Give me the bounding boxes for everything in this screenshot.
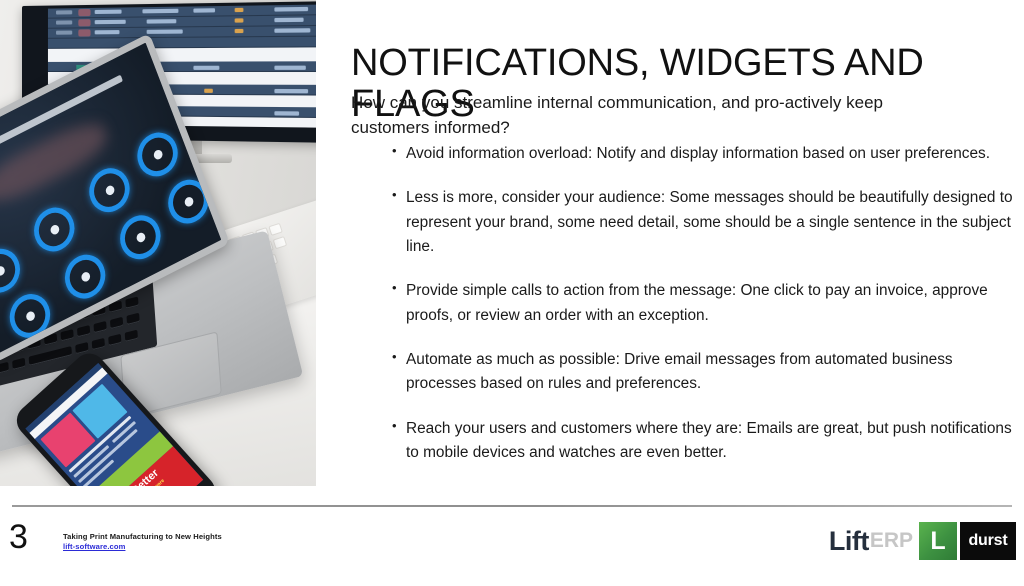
slide-canvas: Sleep Better Happy Factory Dinnerware NO… (0, 0, 1024, 586)
monitor-cell (274, 111, 299, 115)
logo-erp-text: ERP (870, 529, 913, 553)
monitor-cell (193, 66, 219, 70)
list-item: Avoid information overload: Notify and d… (392, 142, 1020, 166)
monitor-cell (274, 7, 308, 12)
bullet-list: Avoid information overload: Notify and d… (392, 142, 1020, 485)
monitor-cell (235, 8, 244, 12)
slide-number: 3 (9, 520, 28, 554)
monitor-status-pill (78, 9, 90, 16)
monitor-cell (95, 10, 122, 14)
app-ring-icon (83, 161, 136, 219)
list-item: Provide simple calls to action from the … (392, 279, 1020, 328)
monitor-cell (204, 89, 213, 93)
monitor-cell (193, 8, 215, 12)
photo-scene: Sleep Better Happy Factory Dinnerware (0, 0, 316, 486)
monitor-cell (56, 20, 72, 24)
monitor-cell (274, 66, 305, 70)
monitor-cell (235, 18, 244, 22)
monitor-cell (95, 30, 120, 34)
app-ring-icon (131, 125, 184, 183)
footer-tagline-text: Taking Print Manufacturing to New Height… (63, 532, 222, 541)
logo-text-group: Lift ERP (829, 522, 913, 560)
monitor-cell (56, 10, 72, 14)
slide-subtitle: How can you streamline internal communic… (351, 91, 951, 140)
monitor-status-pill (78, 19, 90, 26)
list-item: Automate as much as possible: Drive emai… (392, 348, 1020, 397)
app-ring-icon (28, 200, 81, 258)
slide-photo: Sleep Better Happy Factory Dinnerware (0, 0, 316, 486)
monitor-cell (147, 29, 183, 33)
brand-logo: Lift ERP L durst (829, 522, 1016, 560)
logo-lift-text: Lift (829, 526, 869, 557)
monitor-cell (56, 31, 72, 35)
monitor-status-pill (78, 29, 90, 36)
monitor-cell (274, 28, 310, 33)
monitor-cell (274, 18, 303, 23)
monitor-cell (95, 20, 126, 24)
monitor-cell (274, 89, 308, 93)
monitor-cell (147, 19, 177, 23)
list-item: Less is more, consider your audience: So… (392, 186, 1020, 259)
app-ring-icon (0, 241, 26, 299)
logo-green-mark: L (919, 522, 957, 560)
monitor-cell (235, 29, 244, 33)
footer-divider (12, 505, 1012, 507)
app-ring-icon (59, 247, 112, 305)
list-item: Reach your users and customers where the… (392, 417, 1020, 466)
footer-website-link[interactable]: lift-software.com (63, 542, 222, 552)
app-ring-icon (114, 208, 167, 266)
monitor-cell (142, 9, 178, 14)
footer-tagline: Taking Print Manufacturing to New Height… (63, 532, 222, 553)
logo-durst-mark: durst (960, 522, 1016, 560)
